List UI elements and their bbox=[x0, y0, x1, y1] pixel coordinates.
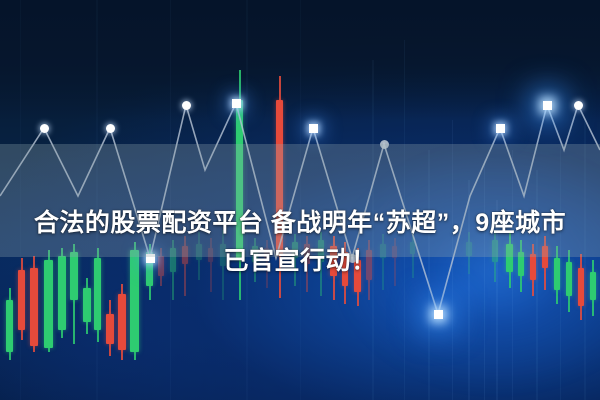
zigzag-node bbox=[309, 124, 318, 133]
zigzag-node bbox=[574, 101, 583, 110]
headline-line-2: 已官宣行动！ bbox=[8, 242, 592, 280]
zigzag-node bbox=[106, 124, 115, 133]
zigzag-node bbox=[496, 124, 505, 133]
headline-caption: 合法的股票配资平台 备战明年“苏超”，9座城市 已官宣行动！ bbox=[0, 166, 600, 318]
news-thumbnail-image: 合法的股票配资平台 备战明年“苏超”，9座城市 已官宣行动！ bbox=[0, 0, 600, 400]
zigzag-node bbox=[182, 101, 191, 110]
headline-line-1: 合法的股票配资平台 备战明年“苏超”，9座城市 bbox=[34, 209, 566, 237]
zigzag-node bbox=[232, 99, 241, 108]
zigzag-node bbox=[543, 101, 552, 110]
zigzag-node bbox=[40, 124, 49, 133]
